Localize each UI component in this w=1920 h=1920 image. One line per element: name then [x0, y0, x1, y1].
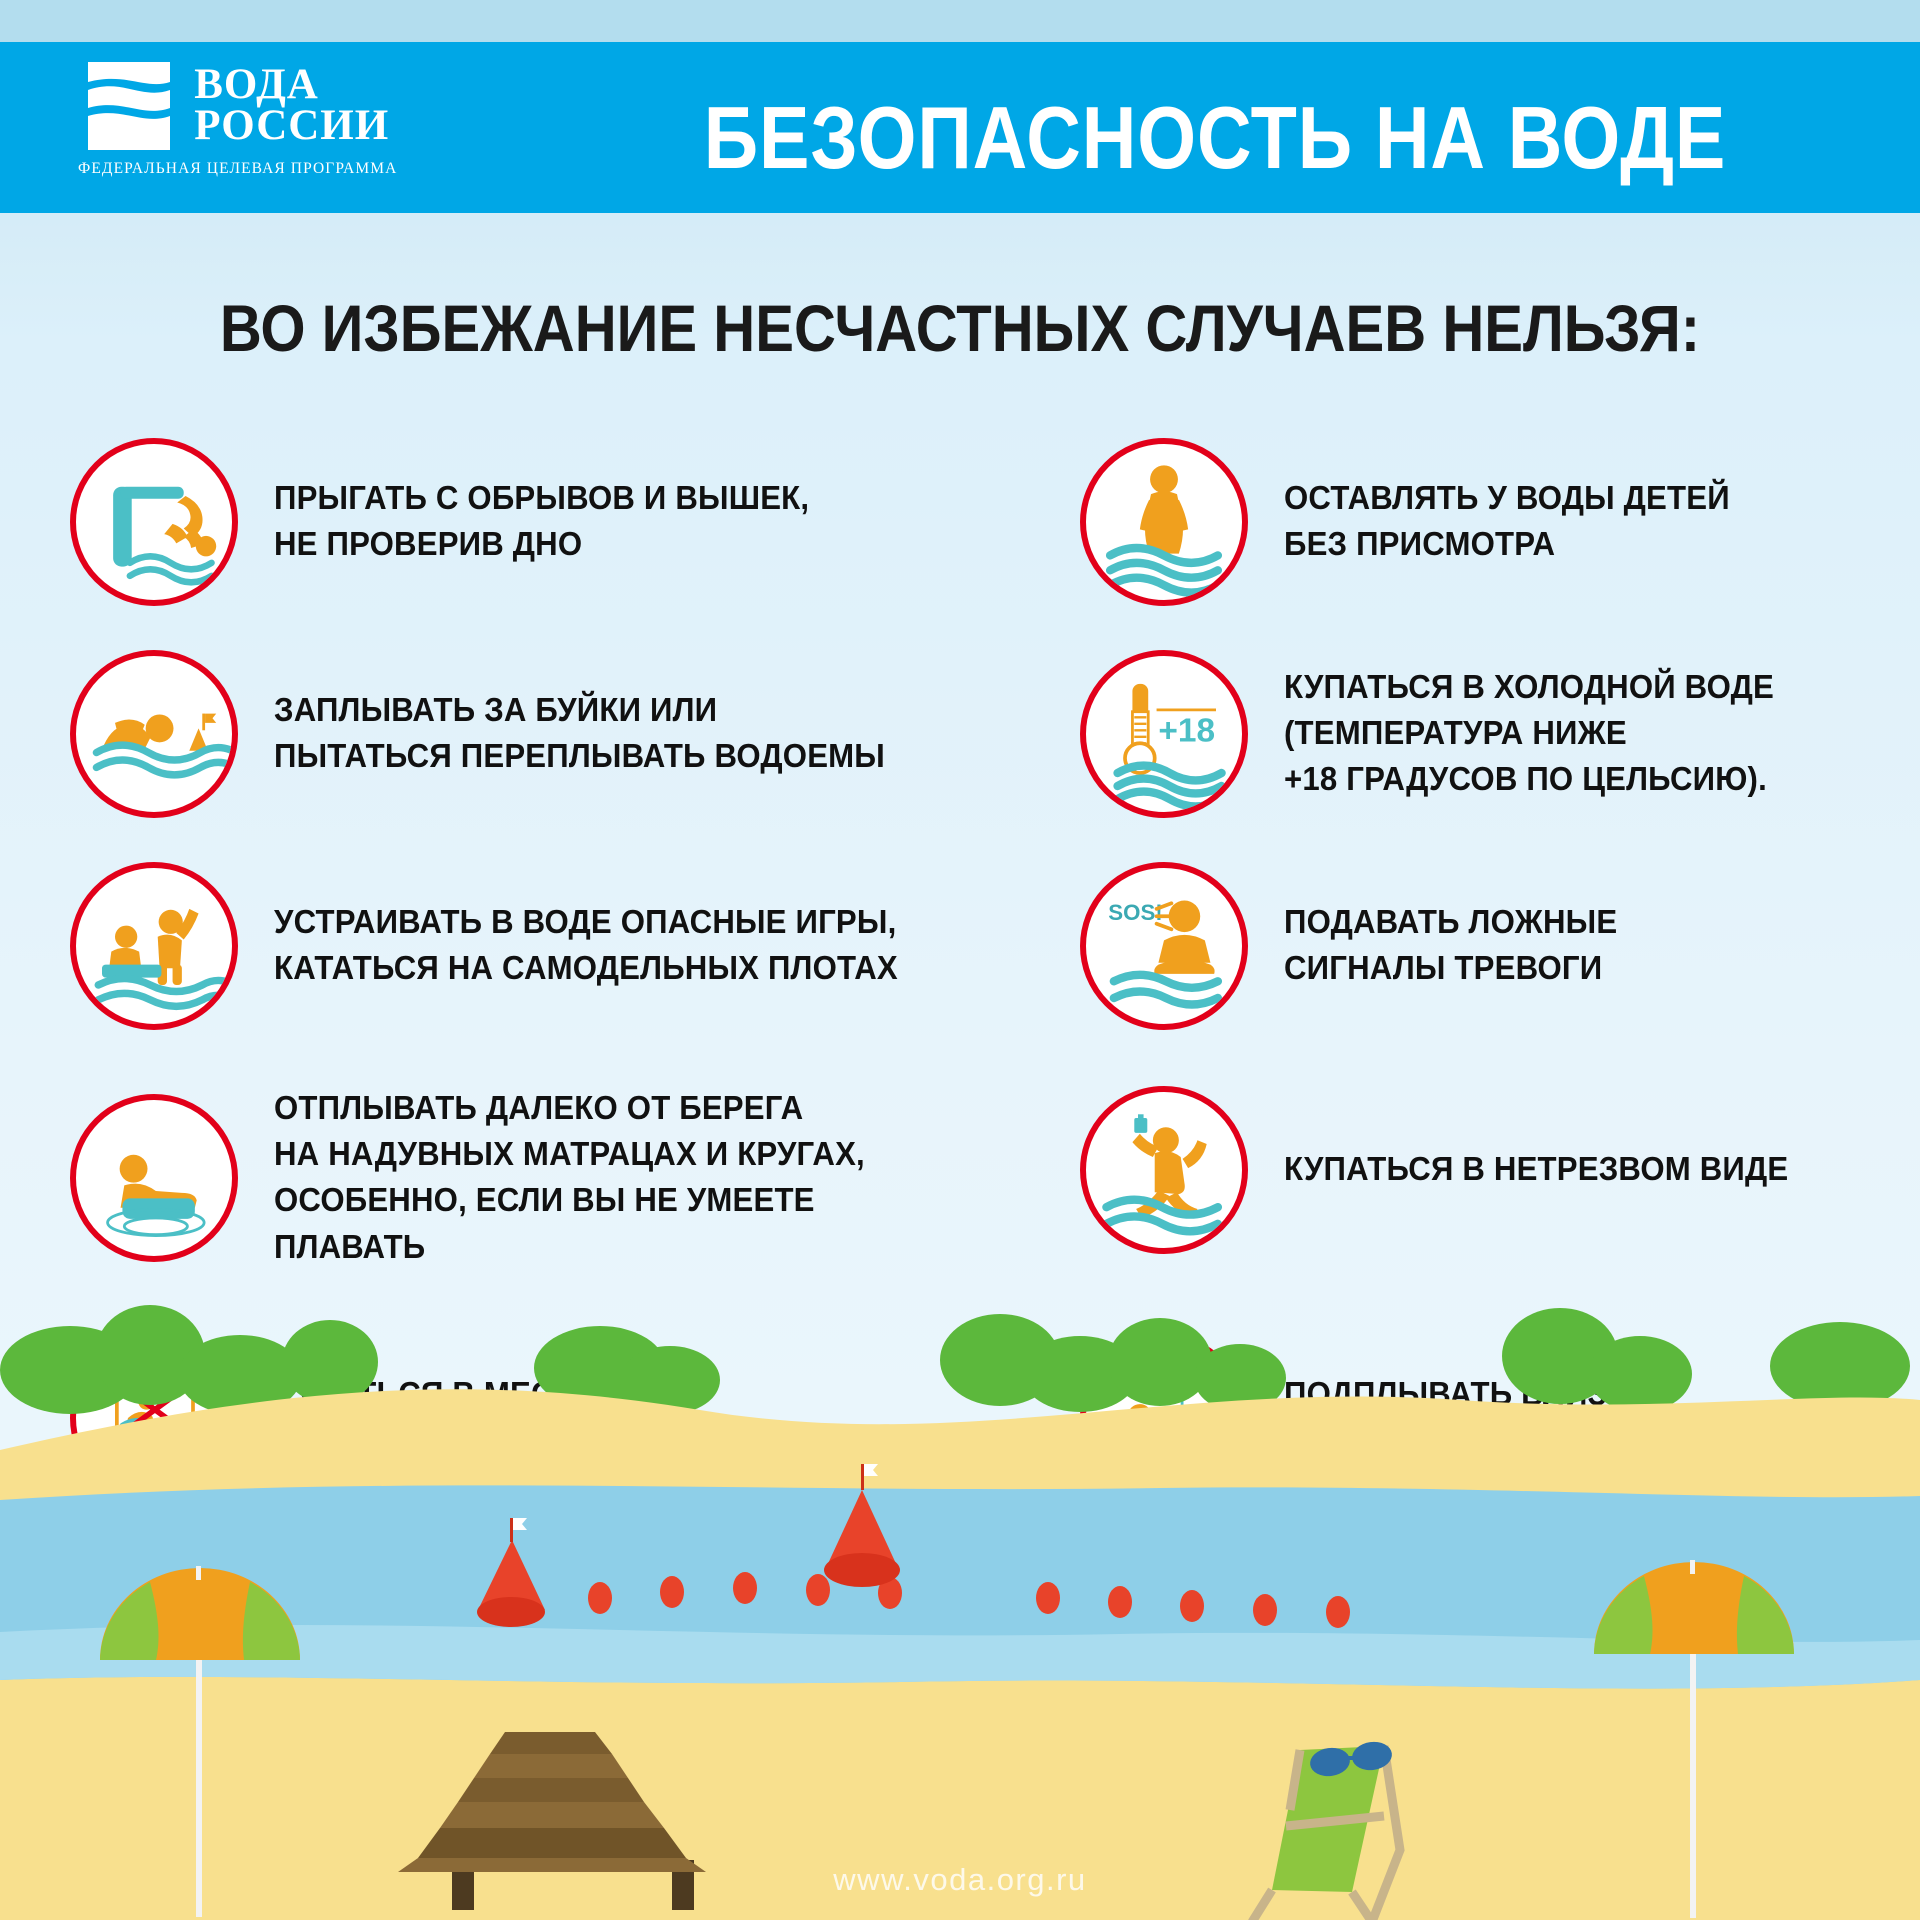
rule-label: ПРЫГАТЬ С ОБРЫВОВ И ВЫШЕК, НЕ ПРОВЕРИВ Д…: [274, 476, 809, 568]
rule-label: УСТРАИВАТЬ В ВОДЕ ОПАСНЫЕ ИГРЫ, КАТАТЬСЯ…: [274, 900, 898, 992]
swim-past-buoys-icon: [70, 650, 238, 818]
infographic-poster: ВОДА РОССИИ ФЕДЕРАЛЬНАЯ ЦЕЛЕВАЯ ПРОГРАММ…: [0, 0, 1920, 1920]
rule-item: ОСТАВЛЯТЬ У ВОДЫ ДЕТЕЙ БЕЗ ПРИСМОТРА: [1080, 438, 1763, 606]
water-waves-logo-icon: [86, 60, 172, 152]
rule-item: +18 КУПАТЬСЯ В ХОЛОДНОЙ ВОДЕ (ТЕМПЕРАТУР…: [1080, 650, 1811, 818]
top-accent-strip: [0, 0, 1920, 42]
sos-label: SOS!: [1108, 900, 1162, 925]
page-title: БЕЗОПАСНОСТЬ НА ВОДЕ: [617, 94, 1812, 182]
cliff-jump-icon: [70, 438, 238, 606]
logo-text-line2: РОССИИ: [194, 106, 389, 147]
rule-item: SOS! ПОДАВАТЬ ЛОЖНЫЕ СИГНАЛЫ ТРЕВО: [1080, 862, 1642, 1030]
rule-label: КУПАТЬСЯ В НЕТРЕЗВОМ ВИДЕ: [1284, 1147, 1788, 1193]
rule-label: ЗАПЛЫВАТЬ ЗА БУЙКИ ИЛИ ПЫТАТЬСЯ ПЕРЕПЛЫВ…: [274, 688, 885, 780]
rule-item: ОТПЛЫВАТЬ ДАЛЕКО ОТ БЕРЕГА НА НАДУВНЫХ М…: [70, 1086, 970, 1271]
dangerous-games-raft-icon: [70, 862, 238, 1030]
rule-label: ОТПЛЫВАТЬ ДАЛЕКО ОТ БЕРЕГА НА НАДУВНЫХ М…: [274, 1086, 921, 1271]
temperature-value: +18: [1158, 712, 1215, 749]
logo-subtitle: ФЕДЕРАЛЬНАЯ ЦЕЛЕВАЯ ПРОГРАММА: [78, 160, 397, 178]
header-bar: ВОДА РОССИИ ФЕДЕРАЛЬНАЯ ЦЕЛЕВАЯ ПРОГРАММ…: [0, 42, 1920, 213]
rule-item: КУПАТЬСЯ В НЕТРЕЗВОМ ВИДЕ: [1080, 1086, 1826, 1254]
thermometer-icon: +18: [1080, 650, 1248, 818]
rule-item: ПРЫГАТЬ С ОБРЫВОВ И ВЫШЕК, НЕ ПРОВЕРИВ Д…: [70, 438, 850, 606]
logo-text-line1: ВОДА: [194, 65, 389, 106]
rule-item: ЗАПЛЫВАТЬ ЗА БУЙКИ ИЛИ ПЫТАТЬСЯ ПЕРЕПЛЫВ…: [70, 650, 931, 818]
drunk-swimmer-icon: [1080, 1086, 1248, 1254]
bush-group: [0, 1305, 1910, 1415]
rule-item: УСТРАИВАТЬ В ВОДЕ ОПАСНЫЕ ИГРЫ, КАТАТЬСЯ…: [70, 862, 945, 1030]
brand-logo: ВОДА РОССИИ ФЕДЕРАЛЬНАЯ ЦЕЛЕВАЯ ПРОГРАММ…: [78, 60, 397, 178]
unattended-child-icon: [1080, 438, 1248, 606]
section-heading: ВО ИЗБЕЖАНИЕ НЕСЧАСТНЫХ СЛУЧАЕВ НЕЛЬЗЯ:: [115, 290, 1805, 366]
footer-url[interactable]: www.voda.org.ru: [0, 1862, 1920, 1898]
rule-label: ПОДАВАТЬ ЛОЖНЫЕ СИГНАЛЫ ТРЕВОГИ: [1284, 900, 1617, 992]
beach-illustration: www.voda.org.ru: [0, 1250, 1920, 1920]
false-alarm-icon: SOS!: [1080, 862, 1248, 1030]
inflatable-mattress-icon: [70, 1094, 238, 1262]
rule-label: ОСТАВЛЯТЬ У ВОДЫ ДЕТЕЙ БЕЗ ПРИСМОТРА: [1284, 476, 1730, 568]
rule-label: КУПАТЬСЯ В ХОЛОДНОЙ ВОДЕ (ТЕМПЕРАТУРА НИ…: [1284, 665, 1774, 804]
